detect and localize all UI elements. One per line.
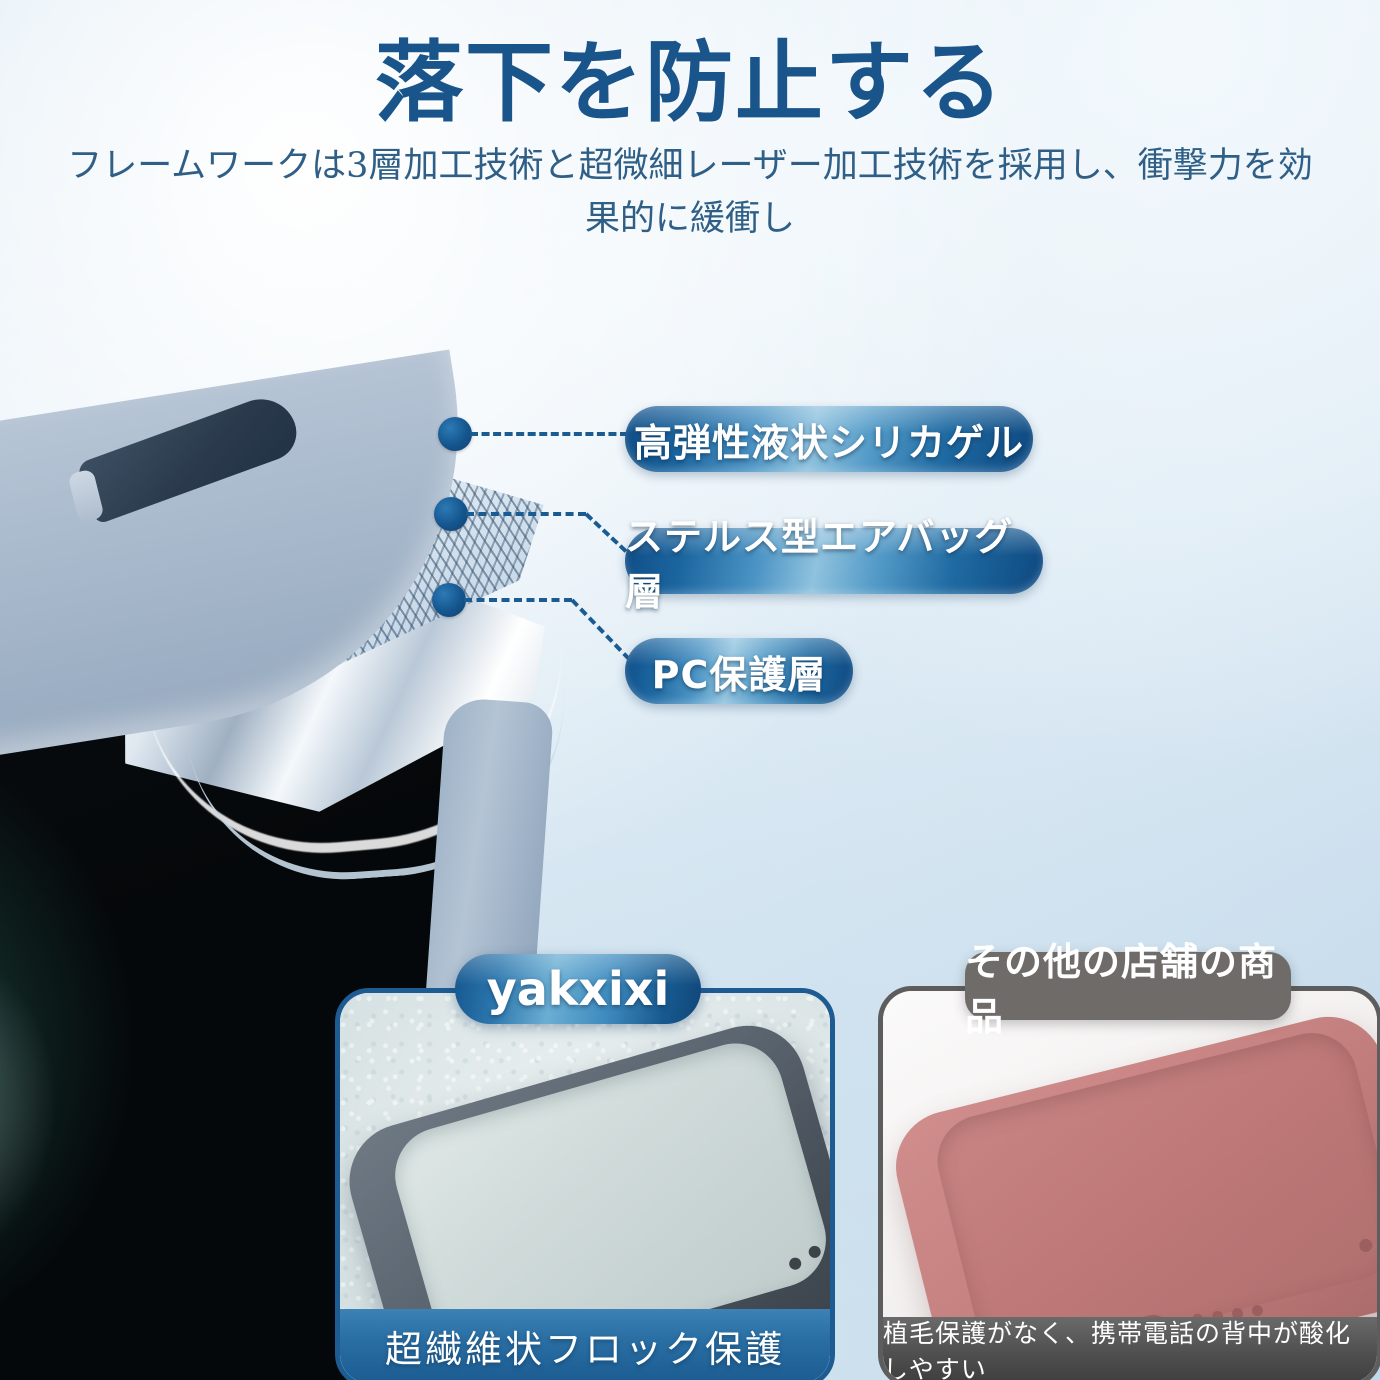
page-subtitle: フレームワークは3層加工技術と超微細レーザー加工技術を採用し、衝撃力を効果的に緩… xyxy=(60,140,1320,246)
comparison-panel-other[interactable]: 植毛保護がなく、携帯電話の背中が酸化しやすい xyxy=(878,986,1380,1380)
callout-label-2: ステルス型エアバッグ層 xyxy=(625,506,1043,616)
connector-dot-icon xyxy=(434,497,468,531)
page-title: 落下を防止する xyxy=(0,12,1380,139)
connector-line-1 xyxy=(470,432,628,436)
comparison-panel-good[interactable]: 超繊維状フロック保護 xyxy=(335,988,835,1380)
product-feature-image: 落下を防止する フレームワークは3層加工技術と超微細レーザー加工技術を採用し、衝… xyxy=(0,0,1380,1380)
callout-pill-1[interactable]: 高弾性液状シリカゲル xyxy=(625,406,1033,472)
connector-line-2a xyxy=(466,512,586,516)
good-caption-bar: 超繊維状フロック保護 xyxy=(340,1309,830,1380)
callout-pill-2[interactable]: ステルス型エアバッグ層 xyxy=(625,528,1043,594)
brand-badge-text: yakxixi xyxy=(487,962,670,1016)
good-caption-text: 超繊維状フロック保護 xyxy=(385,1319,785,1373)
other-store-badge[interactable]: その他の店舗の商品 xyxy=(965,952,1291,1020)
other-caption-text: 植毛保護がなく、携帯電話の背中が酸化しやすい xyxy=(883,1314,1377,1380)
callout-label-1: 高弾性液状シリカゲル xyxy=(634,412,1024,467)
connector-dot-icon xyxy=(438,417,472,451)
header: 落下を防止する フレームワークは3層加工技術と超微細レーザー加工技術を採用し、衝… xyxy=(0,0,1380,270)
other-store-badge-text: その他の店舗の商品 xyxy=(965,931,1291,1041)
other-caption-bar: 植毛保護がなく、携帯電話の背中が酸化しやすい xyxy=(883,1317,1377,1380)
callout-label-3: PC保護層 xyxy=(652,644,827,699)
brand-badge[interactable]: yakxixi xyxy=(455,954,701,1024)
callout-pill-3[interactable]: PC保護層 xyxy=(625,638,853,704)
connector-dot-icon xyxy=(432,583,466,617)
connector-line-3a xyxy=(464,598,572,602)
